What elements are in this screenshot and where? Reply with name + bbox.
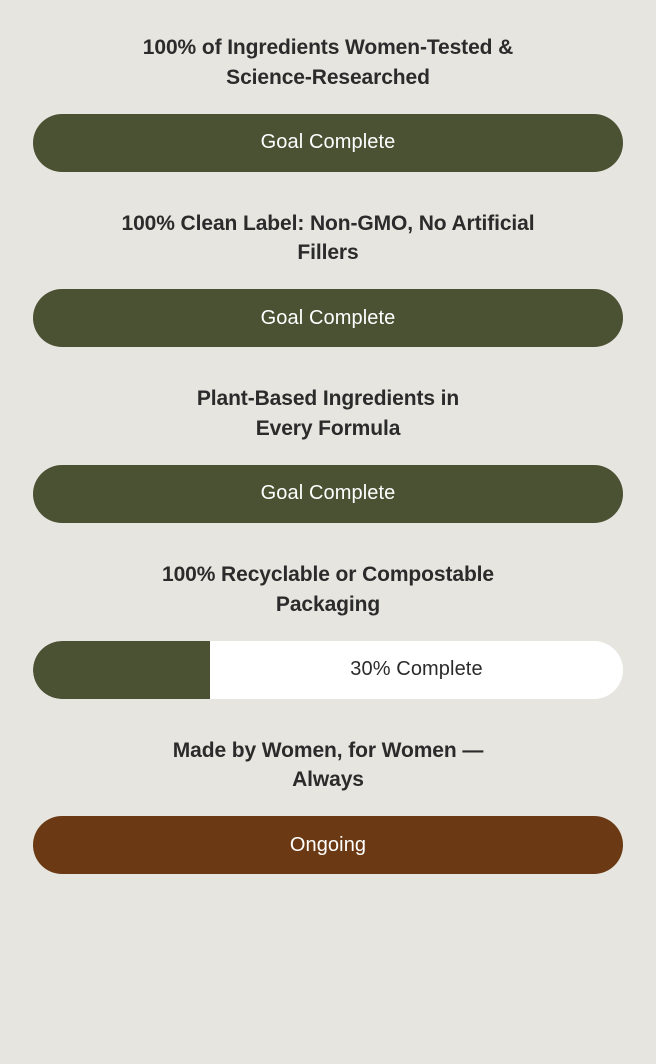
goal-heading: Plant-Based Ingredients in Every Formula — [33, 384, 623, 444]
goal-status-label: Goal Complete — [261, 131, 396, 154]
goal-heading-line: 100% Recyclable or Compostable — [162, 563, 494, 586]
goal-heading-line: Made by Women, for Women — — [173, 739, 483, 762]
goal-heading-line: Plant-Based Ingredients in — [197, 387, 459, 410]
goal-heading-line: Packaging — [276, 593, 380, 616]
goal-heading: 100% of Ingredients Women-Tested & Scien… — [33, 33, 623, 93]
goal-heading: 100% Clean Label: Non-GMO, No Artificial… — [33, 209, 623, 269]
goal-status-label: Ongoing — [290, 834, 366, 857]
goal-item: 100% Recyclable or Compostable Packaging… — [33, 560, 623, 699]
goal-item: 100% of Ingredients Women-Tested & Scien… — [33, 33, 623, 172]
goal-heading-line: 100% of Ingredients Women-Tested & — [143, 36, 513, 59]
goal-progress-bar[interactable]: Goal Complete — [33, 465, 623, 523]
goal-heading-line: Always — [292, 768, 364, 791]
goal-heading: Made by Women, for Women — Always — [33, 736, 623, 796]
goal-progress-bar[interactable]: Ongoing — [33, 816, 623, 874]
goal-item: 100% Clean Label: Non-GMO, No Artificial… — [33, 209, 623, 348]
goal-heading-line: Every Formula — [256, 417, 401, 440]
goal-item: Plant-Based Ingredients in Every Formula… — [33, 384, 623, 523]
goal-heading-line: 100% Clean Label: Non-GMO, No Artificial — [122, 212, 535, 235]
goal-status-label: Goal Complete — [261, 482, 396, 505]
goal-progress-bar[interactable]: Goal Complete — [33, 289, 623, 347]
goal-progress-bar[interactable]: Goal Complete — [33, 114, 623, 172]
goal-item: Made by Women, for Women — Always Ongoin… — [33, 736, 623, 875]
goal-progress-bar[interactable]: 30% Complete — [33, 641, 623, 699]
goals-progress-panel: 100% of Ingredients Women-Tested & Scien… — [0, 0, 656, 1064]
goal-heading-line: Science-Researched — [226, 66, 430, 89]
goal-heading-line: Fillers — [297, 241, 358, 264]
goal-progress-fill — [33, 641, 210, 699]
goal-status-label: 30% Complete — [210, 658, 623, 681]
goal-heading: 100% Recyclable or Compostable Packaging — [33, 560, 623, 620]
goal-status-label: Goal Complete — [261, 307, 396, 330]
